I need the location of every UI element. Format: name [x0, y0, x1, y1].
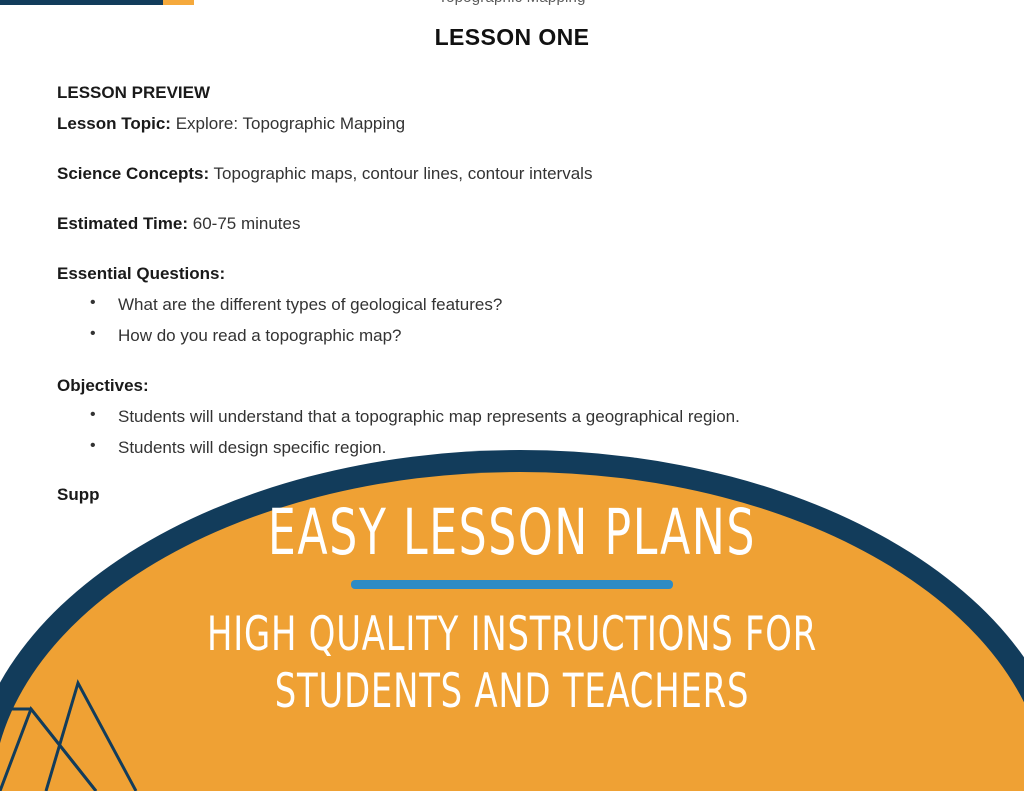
objectives-list: Students will understand that a topograp…	[57, 408, 994, 456]
spacer	[57, 232, 994, 265]
document-content: LESSON ONE LESSON PREVIEW Lesson Topic: …	[0, 0, 1024, 791]
document-body: LESSON PREVIEW Lesson Topic: Explore: To…	[57, 84, 994, 503]
estimated-time-label: Estimated Time:	[57, 214, 188, 233]
spacer	[57, 344, 994, 377]
supplies-heading: Supp	[57, 486, 994, 503]
lesson-preview-heading: LESSON PREVIEW	[57, 84, 994, 101]
spacer	[57, 132, 994, 165]
essential-questions-heading: Essential Questions:	[57, 265, 994, 282]
estimated-time-row: Estimated Time: 60-75 minutes	[57, 215, 994, 232]
list-item: What are the different types of geologic…	[57, 296, 994, 313]
spacer	[57, 182, 994, 215]
spacer	[57, 101, 994, 115]
lesson-topic-row: Lesson Topic: Explore: Topographic Mappi…	[57, 115, 994, 132]
estimated-time-value: 60-75 minutes	[193, 214, 301, 233]
essential-questions-list: What are the different types of geologic…	[57, 296, 994, 344]
list-item: How do you read a topographic map?	[57, 327, 994, 344]
science-concepts-value: Topographic maps, contour lines, contour…	[214, 164, 593, 183]
lesson-plan-page: Topographic Mapping LESSON ONE LESSON PR…	[0, 0, 1024, 791]
science-concepts-label: Science Concepts:	[57, 164, 209, 183]
lesson-topic-value: Explore: Topographic Mapping	[176, 114, 405, 133]
spacer	[57, 456, 994, 486]
objectives-heading: Objectives:	[57, 377, 994, 394]
list-item: Students will design specific region.	[57, 439, 994, 456]
page-title: LESSON ONE	[0, 24, 1024, 51]
lesson-topic-label: Lesson Topic:	[57, 114, 171, 133]
science-concepts-row: Science Concepts: Topographic maps, cont…	[57, 165, 994, 182]
list-item: Students will understand that a topograp…	[57, 408, 994, 425]
